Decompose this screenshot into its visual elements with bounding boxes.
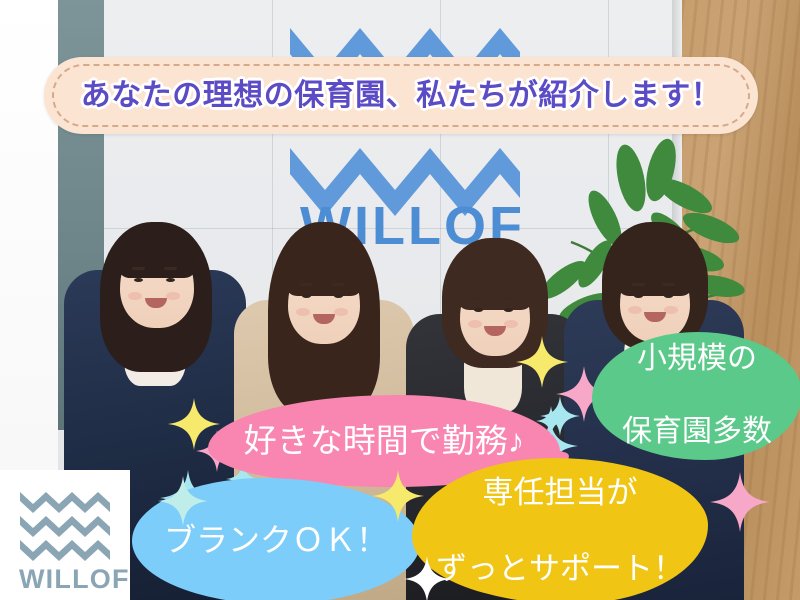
person-1-eye bbox=[166, 278, 175, 282]
person-4-brow bbox=[632, 283, 645, 286]
bubble-small-nurseries: 小規模の 保育園多数 bbox=[592, 332, 800, 460]
person-3-eye bbox=[474, 308, 483, 312]
person-2-eye bbox=[334, 294, 343, 298]
person-3-blush bbox=[468, 320, 482, 328]
person-4-blush bbox=[628, 306, 642, 314]
person-3-blush bbox=[504, 320, 518, 328]
sparkle-yellow-blue bbox=[372, 470, 424, 522]
bubble-small-nurseries-label: 小規模の 保育園多数 bbox=[622, 341, 772, 451]
willof-wordmark: WILLOF bbox=[19, 564, 130, 594]
person-4-brow bbox=[662, 283, 675, 286]
advertisement-banner: WILLOF bbox=[0, 0, 800, 600]
person-1-brow bbox=[132, 267, 145, 270]
person-3-brow bbox=[472, 297, 485, 300]
person-3-brow bbox=[502, 297, 515, 300]
person-4-blush bbox=[664, 306, 678, 314]
bubble-dedicated-support-label: 専任担当が ずっとサポート！ bbox=[436, 474, 684, 587]
bubble-flexible-hours-label: 好きな時間で勤務♪ bbox=[244, 421, 525, 461]
person-2-blush bbox=[334, 308, 348, 316]
person-3-eye bbox=[504, 308, 513, 312]
sparkle-pink-right bbox=[710, 472, 770, 532]
person-1-brow bbox=[164, 267, 177, 270]
person-1-hair bbox=[114, 222, 200, 278]
bubble-career-gap-ok-label: ブランクＯＫ！ bbox=[164, 521, 388, 560]
headline-text: あなたの理想の保育園、私たちが紹介します！ bbox=[44, 81, 758, 111]
person-2-brow bbox=[332, 283, 345, 286]
headline-banner: あなたの理想の保育園、私たちが紹介します！ bbox=[44, 57, 758, 134]
person-2-blush bbox=[296, 308, 310, 316]
person-1-blush bbox=[128, 292, 142, 300]
person-1-eye bbox=[134, 278, 143, 282]
bubble-dedicated-support-line1: 専任担当が bbox=[436, 474, 684, 512]
willof-logo: WILLOF bbox=[0, 470, 130, 600]
sparkle-cyan-topblue bbox=[158, 476, 208, 526]
person-2-eye bbox=[302, 294, 311, 298]
person-4-eye bbox=[664, 294, 673, 298]
bubble-dedicated-support-line2: ずっとサポート！ bbox=[436, 550, 684, 588]
person-1-blush bbox=[166, 292, 180, 300]
person-4-eye bbox=[634, 294, 643, 298]
bubble-small-nurseries-line1: 小規模の bbox=[622, 341, 772, 378]
person-2-brow bbox=[300, 283, 313, 286]
sparkle-cyan-pinkblob bbox=[536, 406, 566, 436]
bubble-small-nurseries-line2: 保育園多数 bbox=[622, 414, 772, 451]
willof-logo-mark: WILLOF bbox=[0, 470, 130, 600]
bubble-dedicated-support: 専任担当が ずっとサポート！ bbox=[412, 458, 708, 600]
